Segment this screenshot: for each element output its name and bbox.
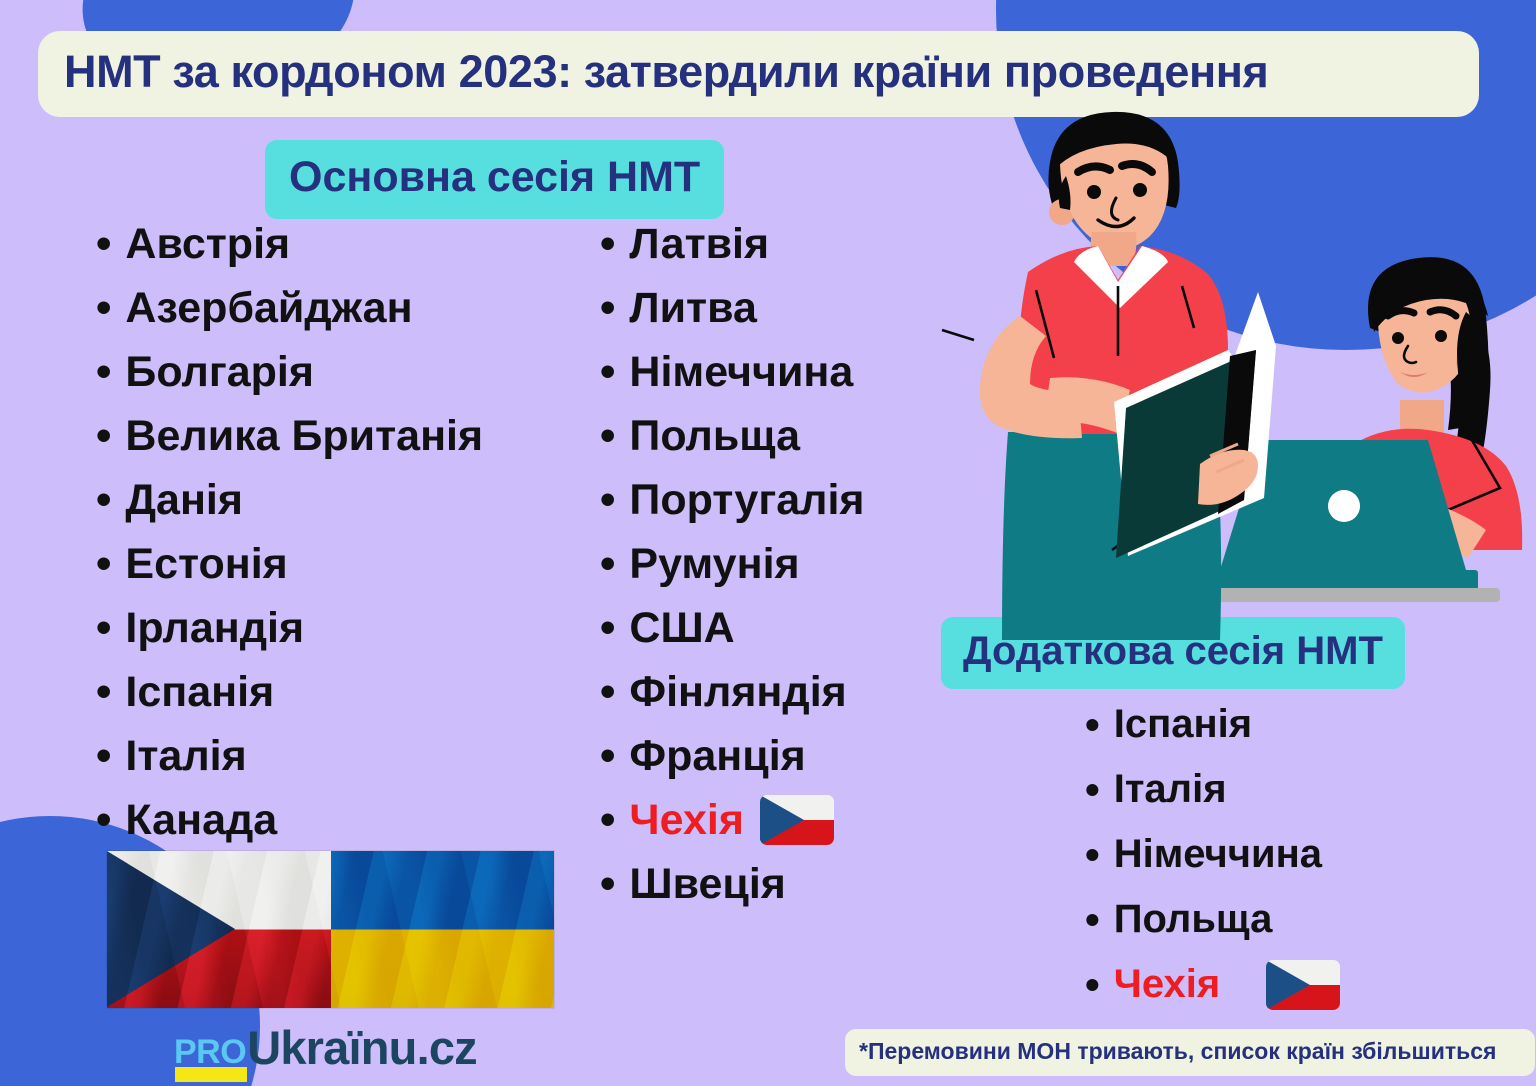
logo-prefix: PRO xyxy=(174,1035,246,1069)
list-item: Італія xyxy=(1085,757,1340,822)
extra-session-country-list: Іспанія Італія Німеччина Польща Чехія xyxy=(1085,692,1340,1017)
country-name: Румунія xyxy=(629,540,799,589)
logo-main-text: Ukraïnu.cz xyxy=(247,1024,477,1071)
country-name: Польща xyxy=(1114,897,1273,942)
flags-photo xyxy=(107,851,554,1008)
list-item: Литва xyxy=(600,276,865,340)
list-item: Франція xyxy=(600,724,865,788)
czech-republic-flag-photo xyxy=(107,851,331,1008)
country-name: Італія xyxy=(1114,767,1227,812)
list-item: Ірландія xyxy=(96,596,483,660)
country-name: Німеччина xyxy=(629,348,853,397)
list-item: Польща xyxy=(1085,887,1340,952)
country-name: Данія xyxy=(125,476,243,525)
country-name: Естонія xyxy=(125,540,287,589)
czech-republic-flag-icon xyxy=(760,795,834,845)
list-item: Естонія xyxy=(96,532,483,596)
country-name: Франція xyxy=(629,732,805,781)
country-name: Німеччина xyxy=(1114,832,1322,877)
main-session-badge-label: Основна сесія НМТ xyxy=(289,153,700,201)
list-item: Іспанія xyxy=(96,660,483,724)
list-item: Латвія xyxy=(600,212,865,276)
list-item: Данія xyxy=(96,468,483,532)
footnote-text: *Перемовини МОН тривають, список країн з… xyxy=(859,1038,1496,1064)
country-name: Чехія xyxy=(1114,962,1221,1007)
country-name: Італія xyxy=(125,732,246,781)
list-item: Болгарія xyxy=(96,340,483,404)
main-session-badge: Основна сесія НМТ xyxy=(265,140,724,219)
country-name: Велика Британія xyxy=(125,412,483,461)
main-session-country-list-right: Латвія Литва Німеччина Польща Португалія… xyxy=(600,212,865,916)
country-name: Іспанія xyxy=(125,668,274,717)
country-name: Литва xyxy=(629,284,756,333)
list-item: Німеччина xyxy=(1085,822,1340,887)
footnote-panel: *Перемовини МОН тривають, список країн з… xyxy=(845,1029,1535,1076)
list-item: Італія xyxy=(96,724,483,788)
list-item: Азербайджан xyxy=(96,276,483,340)
country-name: Ірландія xyxy=(125,604,304,653)
students-illustration xyxy=(900,100,1536,640)
list-item: Фінляндія xyxy=(600,660,865,724)
list-item: Швеція xyxy=(600,852,865,916)
list-item: Австрія xyxy=(96,212,483,276)
country-name: Чехія xyxy=(629,796,744,845)
country-name: Болгарія xyxy=(125,348,314,397)
country-name: Фінляндія xyxy=(629,668,846,717)
list-item-highlighted: Чехія xyxy=(1085,952,1340,1017)
list-item: Португалія xyxy=(600,468,865,532)
country-name: Португалія xyxy=(629,476,864,525)
country-name: Польща xyxy=(629,412,800,461)
list-item: Іспанія xyxy=(1085,692,1340,757)
list-item-highlighted: Чехія xyxy=(600,788,865,852)
country-name: Канада xyxy=(125,796,277,845)
list-item: США xyxy=(600,596,865,660)
site-logo[interactable]: PRO Ukraïnu.cz xyxy=(174,1024,477,1069)
ukraine-flag-photo xyxy=(331,851,555,1008)
list-item: Канада xyxy=(96,788,483,852)
poster-content: НМТ за кордоном 2023: затвердили країни … xyxy=(0,0,1536,1086)
country-name: Швеція xyxy=(629,860,785,909)
list-item: Румунія xyxy=(600,532,865,596)
list-item: Німеччина xyxy=(600,340,865,404)
country-name: Іспанія xyxy=(1114,702,1252,747)
main-session-country-list-left: Австрія Азербайджан Болгарія Велика Брит… xyxy=(96,212,483,852)
country-name: США xyxy=(629,604,734,653)
czech-republic-flag-icon xyxy=(1266,960,1340,1010)
country-name: Латвія xyxy=(629,220,769,269)
list-item: Польща xyxy=(600,404,865,468)
page-title-text: НМТ за кордоном 2023: затвердили країни … xyxy=(64,47,1453,97)
country-name: Австрія xyxy=(125,220,290,269)
list-item: Велика Британія xyxy=(96,404,483,468)
logo-pro-block: PRO xyxy=(174,1035,246,1069)
country-name: Азербайджан xyxy=(125,284,412,333)
